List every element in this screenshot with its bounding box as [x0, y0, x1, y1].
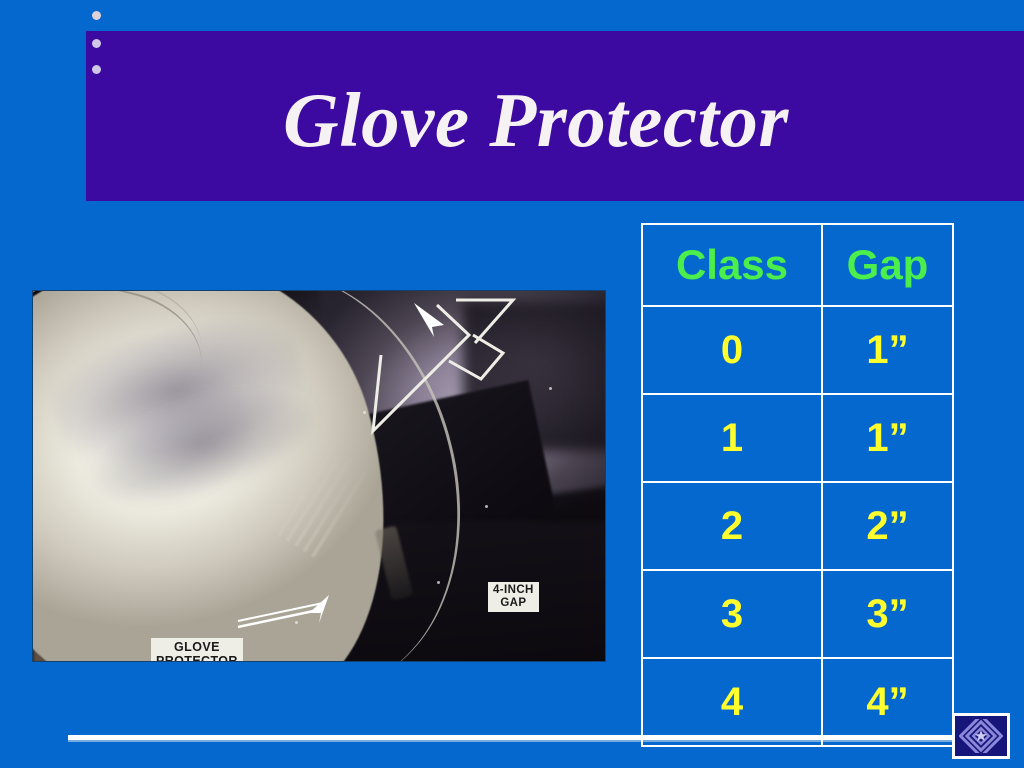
bullet-dot-3: [92, 65, 101, 74]
table-row: 0 1”: [642, 306, 953, 394]
glove-protector-photo: GLOVE PROTECTOR 4-INCH GAP RUBBER GLOVE …: [33, 291, 605, 661]
table-row: 4 4”: [642, 658, 953, 746]
table-header-row: Class Gap: [642, 224, 953, 306]
cell-gap: 4”: [822, 658, 953, 746]
cell-class: 1: [642, 394, 822, 482]
bullet-dot-1: [92, 11, 101, 20]
cell-gap: 3”: [822, 570, 953, 658]
table-row: 3 3”: [642, 570, 953, 658]
column-header-gap: Gap: [822, 224, 953, 306]
cell-gap: 2”: [822, 482, 953, 570]
diamond-star-icon: [959, 719, 1003, 753]
table-row: 1 1”: [642, 394, 953, 482]
slide-canvas: Glove Protector: [0, 0, 1024, 768]
cell-class: 2: [642, 482, 822, 570]
cell-gap: 1”: [822, 306, 953, 394]
cell-gap: 1”: [822, 394, 953, 482]
rubber-glove-arrowhead: [309, 595, 329, 623]
page-title: Glove Protector: [86, 60, 986, 180]
cell-class: 0: [642, 306, 822, 394]
class-gap-table: Class Gap 0 1” 1 1” 2 2” 3 3” 4: [641, 223, 954, 747]
column-header-class: Class: [642, 224, 822, 306]
photo-label-four-inch-gap: 4-INCH GAP: [488, 582, 539, 612]
photo-label-glove-protector: GLOVE PROTECTOR: [151, 638, 243, 661]
table-row: 2 2”: [642, 482, 953, 570]
cell-class: 3: [642, 570, 822, 658]
gap-bracket-leader: [373, 305, 469, 431]
cell-class: 4: [642, 658, 822, 746]
footer-divider: [68, 735, 968, 740]
gap-bracket-top: [456, 300, 513, 343]
bullet-dot-2: [92, 39, 101, 48]
diamond-star-logo: [952, 713, 1010, 759]
